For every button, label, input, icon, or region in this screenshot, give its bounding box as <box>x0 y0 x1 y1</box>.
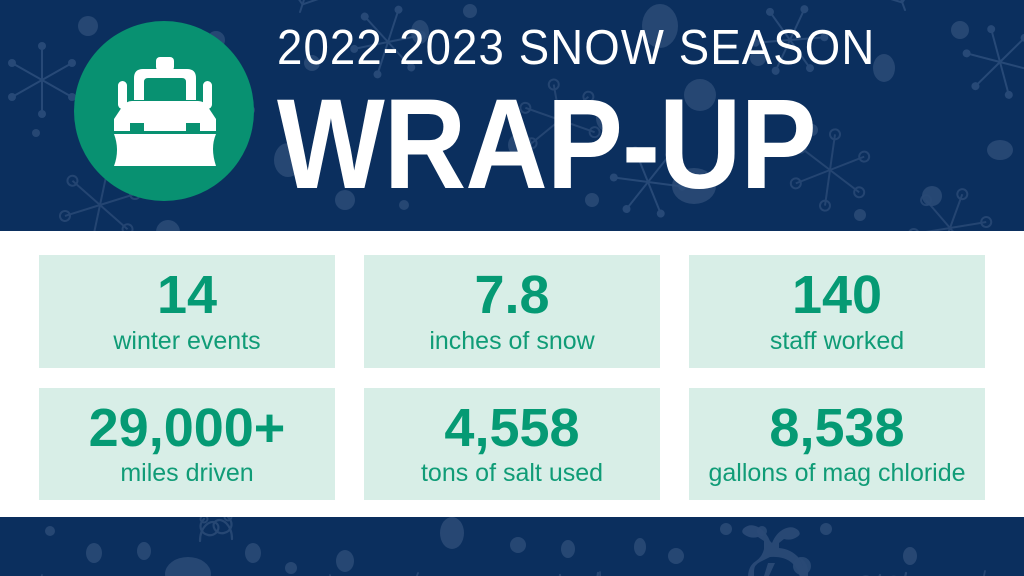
stat-value: 4,558 <box>444 400 579 456</box>
page-title: WRAP-UP <box>277 81 981 209</box>
stat-value: 29,000+ <box>89 400 286 456</box>
stat-value: 8,538 <box>769 400 904 456</box>
snow-season-wrapup-infographic: 2022-2023 SNOW SEASON WRAP-UP 14 winter … <box>0 0 1024 576</box>
stat-label: miles driven <box>120 460 253 488</box>
stat-card-miles-driven: 29,000+ miles driven <box>39 388 335 501</box>
stat-label: inches of snow <box>429 328 594 356</box>
stat-label: gallons of mag chloride <box>708 460 965 488</box>
stat-card-gallons-mag-chloride: 8,538 gallons of mag chloride <box>689 388 985 501</box>
stat-card-staff-worked: 140 staff worked <box>689 255 985 368</box>
stat-card-winter-events: 14 winter events <box>39 255 335 368</box>
stat-label: staff worked <box>770 328 904 356</box>
stat-card-tons-of-salt: 4,558 tons of salt used <box>364 388 660 501</box>
stat-label: winter events <box>113 328 260 356</box>
stat-label: tons of salt used <box>421 460 603 488</box>
stat-value: 7.8 <box>474 267 549 323</box>
header-band: 2022-2023 SNOW SEASON WRAP-UP <box>0 0 1024 231</box>
header-title-group: 2022-2023 SNOW SEASON WRAP-UP <box>277 24 967 193</box>
snowplow-truck-icon <box>74 21 254 201</box>
season-subtitle: 2022-2023 SNOW SEASON <box>277 24 919 73</box>
deer-silhouette <box>742 525 808 576</box>
stat-value: 14 <box>157 267 217 323</box>
footer-band <box>0 517 1024 576</box>
statistics-grid: 14 winter events 7.8 inches of snow 140 … <box>39 255 985 500</box>
stat-card-inches-of-snow: 7.8 inches of snow <box>364 255 660 368</box>
footer-winter-pattern <box>0 517 1024 576</box>
stat-value: 140 <box>792 267 882 323</box>
